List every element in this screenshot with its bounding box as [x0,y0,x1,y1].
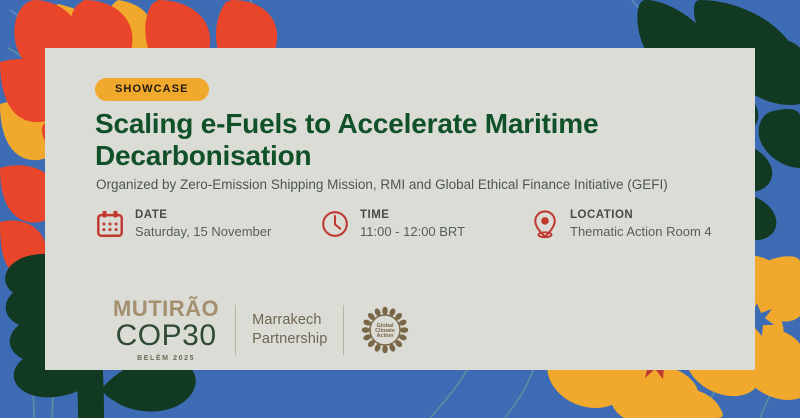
logo-divider-right [343,305,344,355]
meta-text-time: TIME 11:00 - 12:00 BRT [360,209,465,240]
event-card: SHOWCASE Scaling e-Fuels to Accelerate M… [45,48,755,370]
showcase-badge: SHOWCASE [95,78,209,101]
logo-divider-left [235,305,236,355]
logo-strip: MUTIRÃO COP30 BELÉM 2025 Marrakech Partn… [113,298,410,362]
meta-value-date: Saturday, 15 November [135,224,271,240]
clock-icon [320,208,350,240]
meta-item-location: LOCATION Thematic Action Room 4 [530,208,745,240]
calendar-icon [95,208,125,240]
meta-label-time: TIME [360,209,465,222]
marrakech-line-1: Marrakech [252,311,327,330]
meta-value-time: 11:00 - 12:00 BRT [360,224,465,240]
meta-label-location: LOCATION [570,209,712,222]
cop30-logo: MUTIRÃO COP30 BELÉM 2025 [113,298,219,362]
meta-text-location: LOCATION Thematic Action Room 4 [570,209,712,240]
cop30-logo-main: COP30 [116,321,217,351]
meta-label-date: DATE [135,209,271,222]
meta-item-time: TIME 11:00 - 12:00 BRT [320,208,530,240]
meta-item-date: DATE Saturday, 15 November [95,208,320,240]
meta-text-date: DATE Saturday, 15 November [135,209,271,240]
cop30-logo-location: BELÉM 2025 [137,355,195,362]
global-climate-action-logo: Global Climate Action [360,305,410,355]
marrakech-line-2: Partnership [252,330,327,349]
marrakech-partnership-logo: Marrakech Partnership [252,311,327,349]
page-title: Scaling e-Fuels to Accelerate Maritime D… [95,108,725,173]
meta-value-location: Thematic Action Room 4 [570,224,712,240]
global-climate-action-emblem-icon: Global Climate Action [360,305,410,355]
event-meta-row: DATE Saturday, 15 November TIME 11:00 - … [95,208,745,240]
poster-canvas: SHOWCASE Scaling e-Fuels to Accelerate M… [0,0,800,418]
map-pin-icon [530,208,560,240]
gca-line-3: Action [377,333,395,339]
event-organizers: Organized by Zero-Emission Shipping Miss… [96,176,746,194]
cop30-logo-mutirao: MUTIRÃO [113,298,219,320]
